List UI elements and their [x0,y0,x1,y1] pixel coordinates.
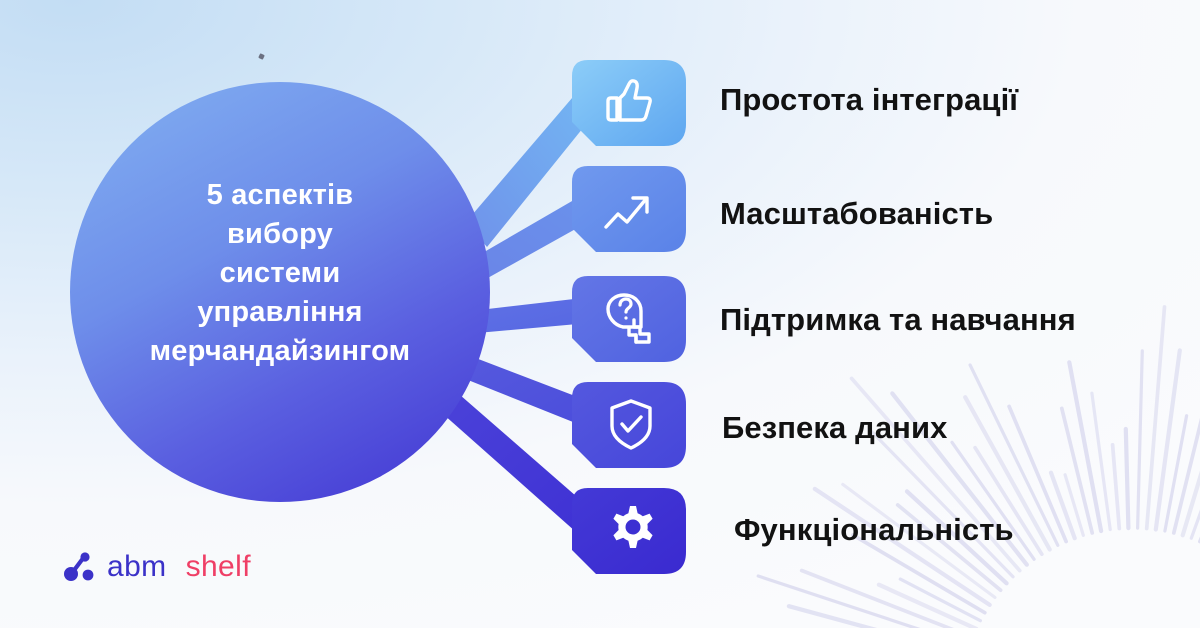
infographic-canvas: 5 аспектів вибору системи управління мер… [0,0,1200,628]
tile-integration[interactable] [572,60,686,146]
brand-logo[interactable]: abm shelf [62,550,251,584]
item-label-security: Безпека даних [722,410,948,446]
tile-support[interactable] [572,276,686,362]
item-label-integration: Простота інтеграції [720,82,1018,118]
item-label-functionality: Функціональність [734,512,1014,548]
tile-security[interactable] [572,382,686,468]
center-circle [70,82,490,502]
logo-word-abm: abm [107,552,167,582]
logo-word-shelf: shelf [186,552,251,582]
item-label-scalability: Масштабованість [720,196,993,232]
tile-scalability[interactable] [572,166,686,252]
tile-group [572,60,686,574]
item-label-support: Підтримка та навчання [720,302,1076,338]
abm-shelf-logo-mark [62,552,96,582]
